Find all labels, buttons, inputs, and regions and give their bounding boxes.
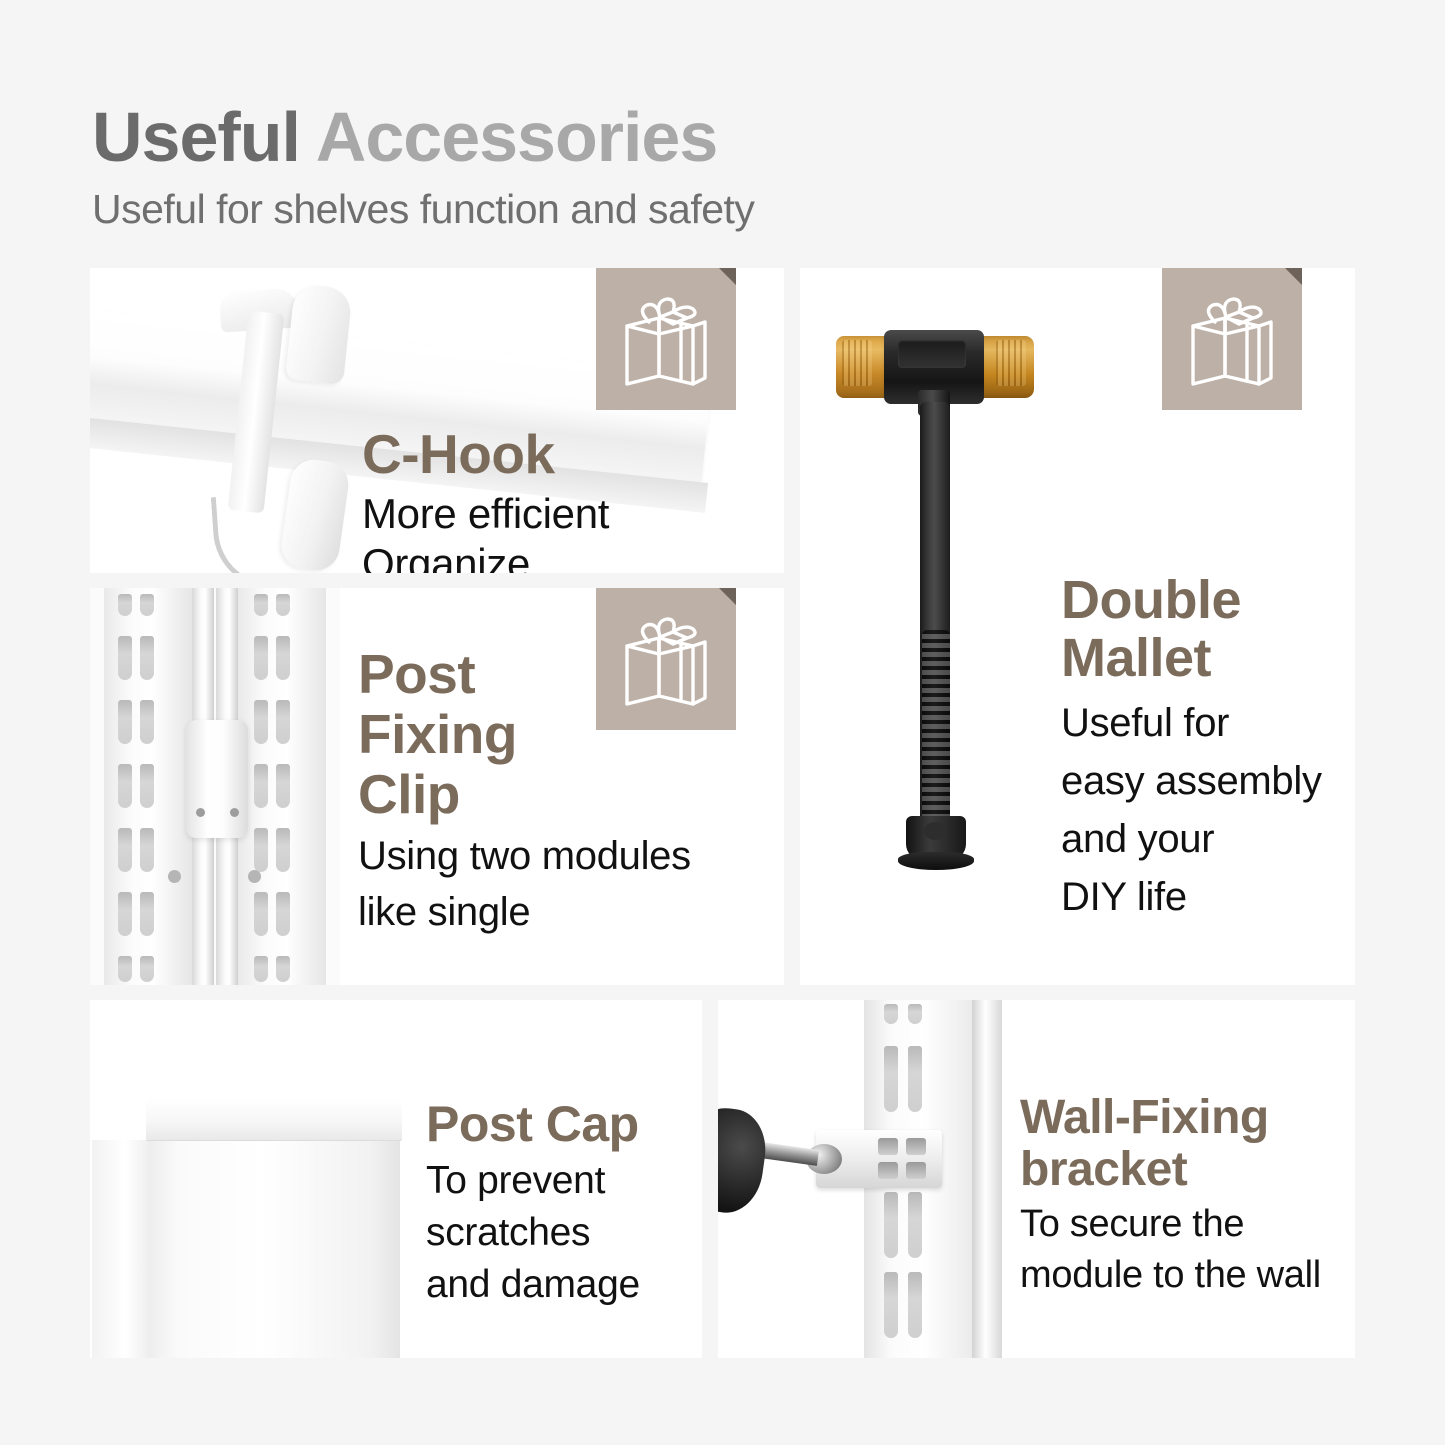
- feature-heading-line: Fixing: [358, 704, 758, 764]
- feature-card-post-cap: Post Cap To prevent scratches and damage: [90, 1000, 702, 1358]
- mallet-butt-dot: [924, 822, 946, 840]
- gift-box-badge: [1162, 268, 1302, 410]
- clip-hole: [230, 808, 239, 817]
- header: Useful Accessories Useful for shelves fu…: [92, 98, 1092, 234]
- feature-text-c-hook: C-Hook More efficient Organize: [362, 425, 784, 573]
- screwdriver-handle: [718, 1103, 771, 1217]
- gift-box-badge: [596, 268, 736, 410]
- post-slot: [140, 594, 154, 616]
- post-slot: [118, 764, 132, 808]
- post-slot: [140, 636, 154, 680]
- post-slot: [908, 1004, 922, 1024]
- feature-heading-line: Mallet: [1061, 629, 1341, 687]
- post-slot: [254, 700, 268, 744]
- post-slot: [254, 636, 268, 680]
- post-slot: [884, 1272, 898, 1338]
- post-slot: [884, 1192, 898, 1258]
- page-subtitle: Useful for shelves function and safety: [92, 184, 1092, 234]
- post-slot: [276, 594, 290, 616]
- post-body: [148, 1102, 400, 1358]
- mallet-brand-plate: [898, 340, 966, 368]
- post-slot: [884, 1046, 898, 1112]
- post-rivet: [248, 870, 261, 883]
- feature-heading-line: bracket: [1020, 1144, 1350, 1196]
- post-slot: [276, 892, 290, 936]
- page-title: Useful Accessories: [92, 98, 1092, 176]
- post-slot: [276, 956, 290, 982]
- post-slot: [140, 764, 154, 808]
- feature-card-wall-fixing-bracket: Wall-Fixing bracket To secure the module…: [718, 1000, 1355, 1358]
- feature-card-c-hook: C-Hook More efficient Organize: [90, 268, 784, 573]
- post-slot: [884, 1004, 898, 1024]
- post-slot: [118, 956, 132, 982]
- bracket-slot: [906, 1162, 926, 1179]
- mallet-head-ridges: [842, 340, 872, 386]
- feature-description-line: and damage: [426, 1261, 696, 1308]
- bracket-slot: [878, 1162, 898, 1179]
- product-image-post-fixing-clip: [90, 588, 340, 985]
- product-image-post-cap: [90, 1000, 420, 1358]
- feature-heading-line: Double: [1061, 571, 1341, 629]
- feature-heading-line: Post: [358, 644, 758, 704]
- c-hook-wire: [211, 491, 309, 573]
- feature-description-line: Using two modules: [358, 832, 758, 880]
- mallet-head-ridges: [996, 340, 1026, 386]
- feature-heading-line: Clip: [358, 764, 758, 824]
- post-fixing-clip-collar: [186, 720, 248, 838]
- post-slot: [140, 700, 154, 744]
- post-slot: [118, 700, 132, 744]
- bracket-slot: [906, 1138, 926, 1155]
- badge-corner-fold: [1285, 268, 1302, 285]
- feature-card-post-fixing-clip: Post Fixing Clip Using two modules like …: [90, 588, 784, 985]
- post-rail: [972, 1000, 1002, 1358]
- gift-box-icon: [615, 288, 717, 390]
- feature-description-line: like single: [358, 888, 758, 936]
- feature-text-wall-fixing-bracket: Wall-Fixing bracket To secure the module…: [1020, 1092, 1350, 1298]
- feature-description-line: easy assembly: [1061, 759, 1341, 803]
- feature-card-double-mallet: Double Mallet Useful for easy assembly a…: [800, 268, 1355, 985]
- feature-description-line: module to the wall: [1020, 1252, 1350, 1298]
- infographic-page: Useful Accessories Useful for shelves fu…: [0, 0, 1445, 1445]
- post-slot: [118, 892, 132, 936]
- gift-box-icon: [1181, 288, 1283, 390]
- feature-text-post-cap: Post Cap To prevent scratches and damage: [426, 1096, 696, 1308]
- feature-heading-post-cap: Post Cap: [426, 1096, 696, 1152]
- post-slot: [254, 594, 268, 616]
- page-title-part1: Useful: [92, 98, 316, 176]
- post-slot: [118, 594, 132, 616]
- badge-corner-fold: [719, 588, 736, 605]
- post-slot: [118, 828, 132, 872]
- product-image-double-mallet: [836, 330, 1036, 930]
- post-slot: [276, 700, 290, 744]
- post-slot: [118, 636, 132, 680]
- feature-description-line: DIY life: [1061, 875, 1341, 919]
- feature-description-line: To prevent: [426, 1157, 696, 1204]
- post-slot: [254, 764, 268, 808]
- post-slot: [908, 1192, 922, 1258]
- post-slot: [254, 892, 268, 936]
- feature-description-line: To secure the: [1020, 1201, 1350, 1247]
- bracket-slot: [878, 1138, 898, 1155]
- post-slot: [254, 956, 268, 982]
- post-rivet: [168, 870, 181, 883]
- feature-text-post-fixing-clip: Post Fixing Clip Using two modules like …: [358, 644, 758, 936]
- feature-description-line: Useful for: [1061, 701, 1341, 745]
- c-hook-upper-arm: [285, 283, 353, 385]
- feature-heading-c-hook: C-Hook: [362, 425, 784, 483]
- product-image-wall-fixing-bracket: [718, 1000, 1018, 1358]
- post-slot: [140, 828, 154, 872]
- post-slot: [276, 764, 290, 808]
- feature-text-double-mallet: Double Mallet Useful for easy assembly a…: [1061, 571, 1341, 919]
- post-slot: [908, 1046, 922, 1112]
- feature-heading-line: Wall-Fixing: [1020, 1092, 1350, 1144]
- mallet-grip-ribs: [922, 630, 950, 820]
- feature-description-line: scratches: [426, 1209, 696, 1256]
- post-slot: [276, 636, 290, 680]
- post-slot: [254, 828, 268, 872]
- badge-corner-fold: [719, 268, 736, 285]
- post-slot: [908, 1272, 922, 1338]
- post-slot: [140, 892, 154, 936]
- page-title-part2: Accessories: [316, 98, 718, 176]
- feature-description-c-hook: More efficient Organize: [362, 489, 784, 573]
- post-slot: [140, 956, 154, 982]
- post-slot: [276, 828, 290, 872]
- mallet-end-cap: [898, 852, 974, 870]
- feature-description-line: and your: [1061, 817, 1341, 861]
- post-cap-piece: [146, 1098, 402, 1140]
- clip-hole: [196, 808, 205, 817]
